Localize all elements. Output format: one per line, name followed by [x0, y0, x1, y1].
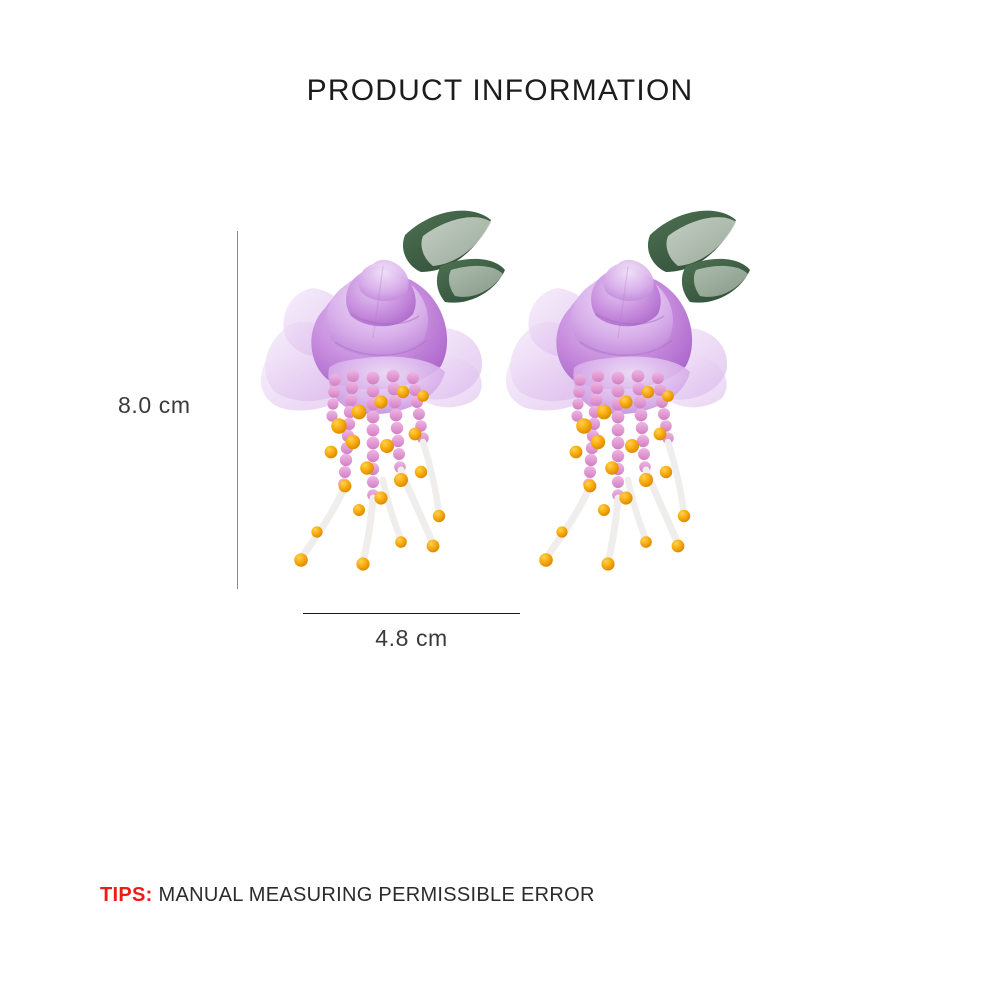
earring-left	[255, 180, 515, 610]
height-measure-line	[237, 231, 238, 589]
page-title: PRODUCT INFORMATION	[0, 74, 1000, 108]
tips-text: MANUAL MEASURING PERMISSIBLE ERROR	[153, 884, 595, 906]
tips-note: TIPS: MANUAL MEASURING PERMISSIBLE ERROR	[100, 884, 595, 907]
product-information-page: PRODUCT INFORMATION 8.0 cm	[0, 0, 1000, 1000]
earring-right	[500, 180, 760, 610]
width-measure-line	[303, 613, 520, 614]
product-photo	[255, 180, 775, 610]
height-measure-label: 8.0 cm	[118, 392, 191, 419]
width-measure-label: 4.8 cm	[303, 625, 520, 652]
tips-label: TIPS:	[100, 884, 153, 906]
